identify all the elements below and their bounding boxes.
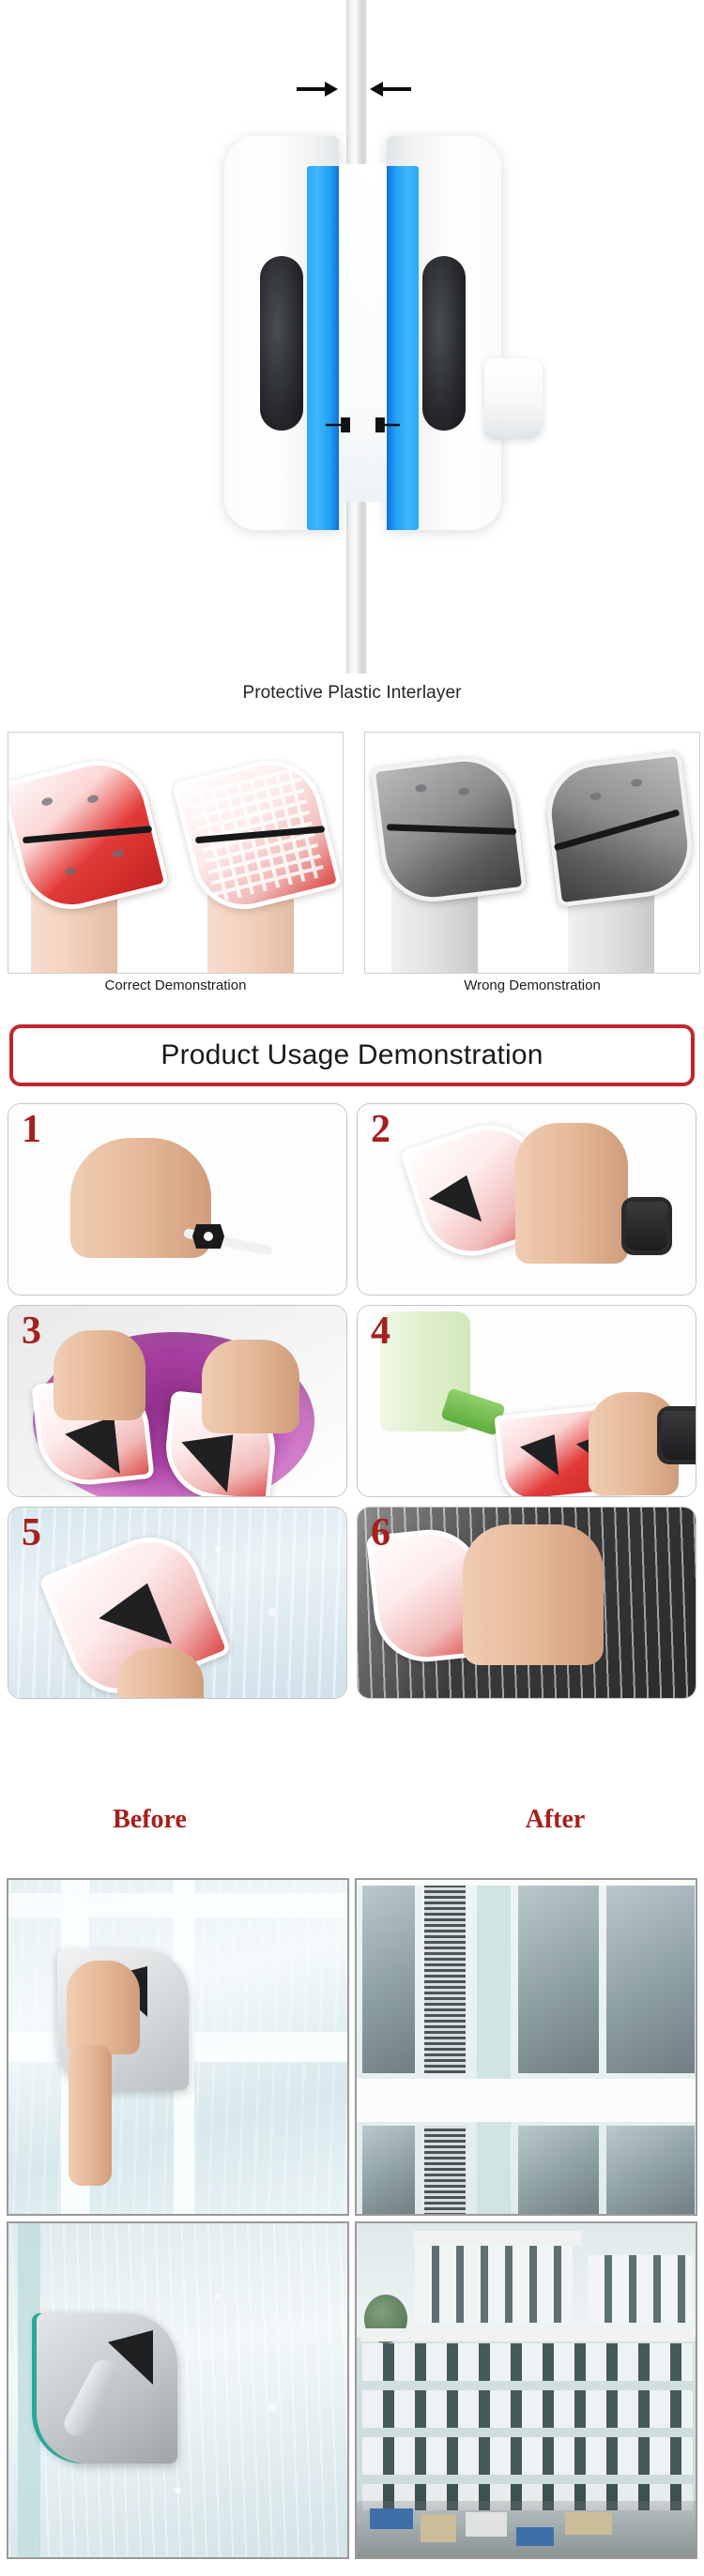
step-3-photo: [8, 1306, 346, 1496]
gallery-row-1: [7, 1878, 697, 2216]
step-card-6: 6: [357, 1507, 696, 1699]
demonstration-comparison: Correct Demonstration Wrong Demonstratio…: [0, 732, 704, 1013]
banner-title: Product Usage Demonstration: [161, 1039, 543, 1071]
cleaning-pad-right: [359, 164, 387, 502]
step-5-photo: [8, 1508, 346, 1698]
step-number-2: 2: [371, 1110, 390, 1149]
step-6-photo: [358, 1508, 696, 1698]
gallery-cell-cleaning-foggy-window: [7, 1878, 349, 2216]
step-number-3: 3: [22, 1311, 41, 1351]
step-4-photo: [358, 1306, 696, 1496]
arrow-right-icon: [297, 79, 340, 99]
step-row-1: 1 2: [8, 1103, 696, 1296]
product-detail-page: Protective Plastic Interlayer: [0, 0, 704, 2576]
gallery-cell-clear-view-building: [355, 1878, 697, 2216]
gallery-cell-clear-view-cityscape: [355, 2221, 697, 2559]
magnet-right: [422, 256, 466, 431]
step-card-2: 2: [357, 1103, 696, 1296]
step-number-5: 5: [22, 1513, 41, 1553]
arrow-left-icon: [368, 79, 411, 99]
step-card-4: 4: [357, 1305, 696, 1497]
step-card-5: 5: [8, 1507, 347, 1699]
step-card-1: 1: [8, 1103, 347, 1296]
step-row-3: 5 6: [8, 1507, 696, 1699]
wrong-demonstration-caption: Wrong Demonstration: [364, 977, 700, 993]
step-number-6: 6: [371, 1513, 390, 1553]
hero-product-photo: [0, 0, 704, 674]
blue-frame-left: [307, 166, 339, 530]
step-number-1: 1: [22, 1110, 41, 1149]
result-photo-grid: [7, 1878, 697, 2565]
step-1-photo: [8, 1104, 346, 1295]
gallery-cell-tool-on-rainy-window: [7, 2221, 349, 2559]
hero-caption: Protective Plastic Interlayer: [0, 683, 704, 704]
double-sided-window-cleaner: [224, 136, 501, 586]
wrong-demonstration-photo: [364, 732, 700, 974]
before-after-labels: Before After: [0, 1805, 704, 1874]
magnet-left: [260, 256, 303, 431]
step-2-photo: [358, 1104, 696, 1295]
before-label: Before: [0, 1805, 326, 1835]
step-row-2: 3 4: [8, 1305, 696, 1497]
correct-demonstration-caption: Correct Demonstration: [8, 977, 344, 993]
after-label: After: [379, 1805, 704, 1835]
step-card-3: 3: [8, 1305, 347, 1497]
device-handle: [484, 358, 543, 439]
gallery-row-2: [7, 2221, 697, 2559]
usage-steps-grid: 1 2: [8, 1103, 696, 1708]
correct-demonstration-photo: [8, 732, 344, 974]
usage-demonstration-banner: Product Usage Demonstration: [9, 1024, 695, 1086]
step-number-4: 4: [371, 1311, 390, 1351]
blue-frame-right: [387, 166, 419, 530]
